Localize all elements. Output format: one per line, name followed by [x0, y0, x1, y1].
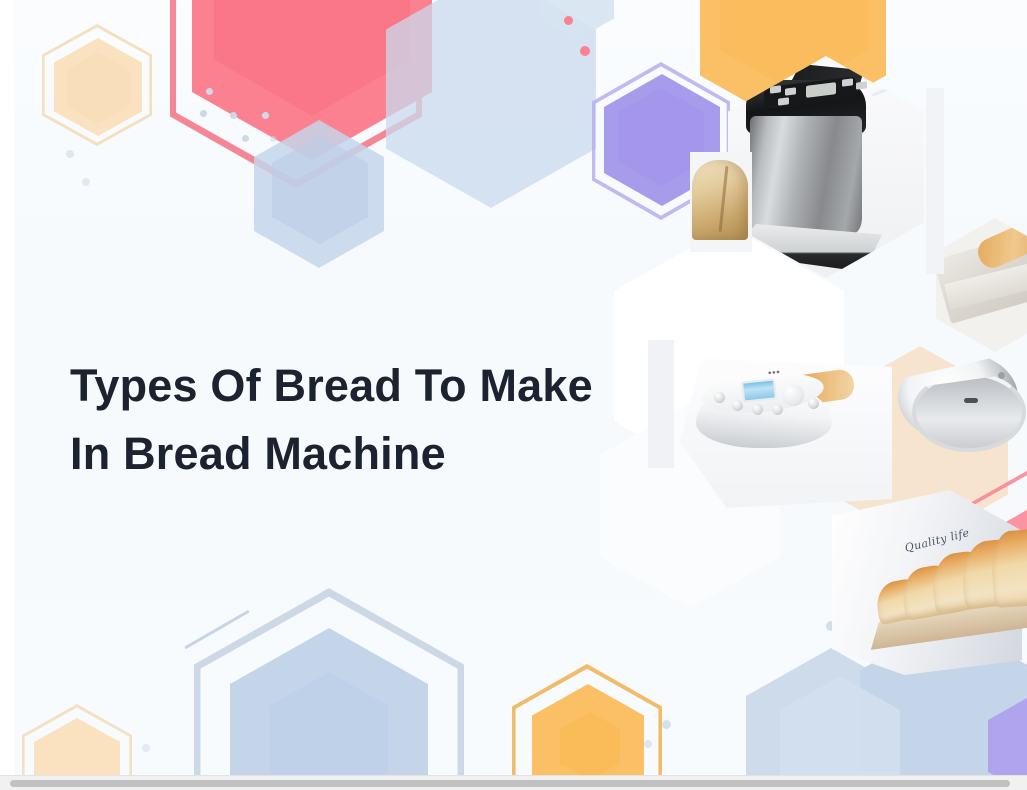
dot-7	[66, 150, 74, 158]
dot-3	[230, 112, 237, 119]
bread-machine-key-5	[856, 81, 867, 89]
dot-11	[142, 744, 150, 752]
page-root: ●●● Quality life Types Of Bread To Make …	[0, 0, 1027, 790]
dot-10	[580, 46, 590, 56]
photo-baguette-on-cloth	[936, 218, 1027, 352]
dot-13	[644, 740, 652, 748]
hexagon-orange-fill-bottom-left	[34, 718, 120, 776]
mixer-bowl-screw	[998, 372, 1005, 379]
bread-machine-key-4	[842, 78, 853, 86]
bread-slice-1	[872, 575, 933, 625]
paper-edge-1	[926, 88, 944, 274]
horizontal-scrollbar-thumb[interactable]	[10, 780, 1010, 787]
white-machine-knob-1	[714, 392, 725, 403]
dot-2	[200, 110, 207, 117]
page-title: Types Of Bread To Make In Bread Machine	[70, 352, 670, 488]
white-machine-brand-text: ●●●	[768, 369, 781, 376]
dot-4	[262, 112, 269, 119]
dot-6	[270, 136, 276, 142]
hexagon-pink-right	[1004, 490, 1027, 622]
white-machine-dial	[782, 384, 804, 406]
dot-12	[662, 720, 671, 729]
dot-1	[206, 88, 213, 95]
horizontal-scrollbar-track[interactable]	[0, 775, 1027, 790]
bread-machine-body	[750, 116, 862, 234]
white-machine-knob-3	[752, 404, 763, 415]
hero-banner: ●●● Quality life Types Of Bread To Make …	[14, 0, 1027, 776]
dot-5	[242, 135, 249, 142]
bread-machine-key-3	[778, 97, 789, 105]
white-machine-knob-2	[732, 400, 743, 411]
white-machine-knob-5	[808, 398, 819, 409]
bread-machine-key-2	[785, 87, 796, 95]
dot-8	[82, 178, 90, 186]
photo-toast-slice	[690, 152, 752, 252]
dot-15	[846, 528, 856, 538]
white-machine-knob-4	[772, 404, 783, 415]
dot-9	[564, 16, 573, 25]
photo-white-bread-machine: ●●●	[680, 358, 892, 508]
dot-14	[826, 621, 836, 631]
white-machine-lcd-display	[741, 378, 777, 402]
dot-17	[919, 553, 945, 579]
